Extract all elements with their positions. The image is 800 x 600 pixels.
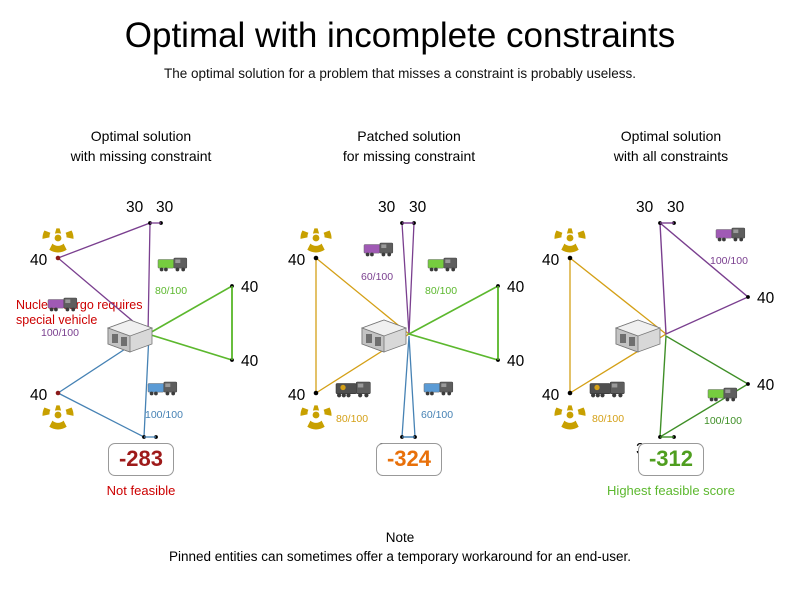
node-label: 30 xyxy=(636,199,654,216)
vehicle-capacity-label: 100/100 xyxy=(710,255,748,267)
score-caption: Not feasible xyxy=(8,483,274,498)
node-nuclear-top-left[interactable] xyxy=(568,256,573,261)
vehicle-purple-icon[interactable] xyxy=(364,243,393,256)
panel-1-diagram: 40 40 30 30 30 30 40 40 100/100 xyxy=(8,170,274,436)
radiation-icon xyxy=(41,405,74,429)
node-label: 40 xyxy=(757,290,775,307)
panel-3-diagram: 40 40 30 30 30 30 40 40 100/100 xyxy=(538,170,800,436)
node-label: 40 xyxy=(30,252,48,269)
vehicle-capacity-label: 80/100 xyxy=(336,413,368,425)
route-purple xyxy=(58,223,150,334)
node-label: 40 xyxy=(507,279,525,296)
panel-2-heading: Patched solution for missing constraint xyxy=(276,126,542,166)
node-right-lower[interactable] xyxy=(746,382,750,386)
node-nuclear-top-left[interactable] xyxy=(56,256,61,261)
node-nuclear-bottom-left[interactable] xyxy=(568,391,573,396)
vehicle-purple-icon[interactable] xyxy=(716,228,745,241)
depot-icon xyxy=(362,320,406,352)
score-badge: -283 xyxy=(108,443,174,476)
vehicle-capacity-label: 80/100 xyxy=(425,285,457,297)
slide-root: Optimal with incomplete constraints The … xyxy=(0,0,800,600)
node-right-upper[interactable] xyxy=(746,295,750,299)
node-label: 40 xyxy=(542,252,560,269)
node-label: 40 xyxy=(542,387,560,404)
radiation-icon xyxy=(41,228,74,252)
page-subtitle: The optimal solution for a problem that … xyxy=(0,66,800,81)
vehicle-green-icon[interactable] xyxy=(158,258,187,271)
panel-1-heading: Optimal solution with missing constraint xyxy=(8,126,274,166)
node-nuclear-bottom-left[interactable] xyxy=(314,391,319,396)
vehicle-blue-icon[interactable] xyxy=(424,382,453,395)
vehicle-capacity-label: 100/100 xyxy=(145,409,183,421)
panel-2-diagram: 40 40 30 30 30 30 40 40 60/100 xyxy=(276,170,542,436)
vehicle-blue-icon[interactable] xyxy=(148,382,177,395)
score-cell-3: -312 Highest feasible score xyxy=(538,443,800,498)
radiation-icon xyxy=(553,405,586,429)
vehicle-special-nuclear-icon[interactable] xyxy=(336,382,370,397)
vehicle-special-nuclear-icon[interactable] xyxy=(590,382,624,397)
node-nuclear-top-left[interactable] xyxy=(314,256,319,261)
node-label: 30 xyxy=(667,199,685,216)
node-label: 40 xyxy=(757,377,775,394)
radiation-icon xyxy=(299,405,332,429)
score-row: -283 Not feasible -324 -312 Highest feas… xyxy=(0,443,800,513)
node-label: 40 xyxy=(241,353,259,370)
vehicle-purple-icon[interactable] xyxy=(48,298,77,311)
route-green xyxy=(409,286,498,360)
node-label: 30 xyxy=(378,199,396,216)
panel-3-heading: Optimal solution with all constraints xyxy=(538,126,800,166)
vehicle-capacity-label: 60/100 xyxy=(361,271,393,283)
vehicle-green-icon[interactable] xyxy=(428,258,457,271)
route-purple xyxy=(402,223,414,334)
node-nuclear-bottom-left[interactable] xyxy=(56,391,61,396)
page-title: Optimal with incomplete constraints xyxy=(0,16,800,56)
score-caption: Highest feasible score xyxy=(538,483,800,498)
node-label: 30 xyxy=(156,199,174,216)
panel-3-heading-line1: Optimal solution xyxy=(621,128,721,144)
panel-optimal-missing-constraint: Optimal solution with missing constraint… xyxy=(8,126,274,436)
vehicle-capacity-label: 80/100 xyxy=(592,413,624,425)
route-green xyxy=(148,286,232,360)
score-badge: -324 xyxy=(376,443,442,476)
vehicle-capacity-label: 60/100 xyxy=(421,409,453,421)
footer-note-heading: Note xyxy=(0,528,800,547)
panel-2-heading-line2: for missing constraint xyxy=(276,146,542,166)
footer-note-text: Pinned entities can sometimes offer a te… xyxy=(169,549,631,564)
panel-2-heading-line1: Patched solution xyxy=(357,128,461,144)
vehicle-capacity-label: 100/100 xyxy=(704,415,742,427)
panel-3-heading-line2: with all constraints xyxy=(538,146,800,166)
vehicle-capacity-label: 100/100 xyxy=(41,327,79,339)
footer-note: Note Pinned entities can sometimes offer… xyxy=(0,528,800,566)
panel-1-heading-line1: Optimal solution xyxy=(91,128,191,144)
route-blue xyxy=(402,336,415,437)
radiation-icon xyxy=(553,228,586,252)
vehicle-capacity-label: 80/100 xyxy=(155,285,187,297)
node-label: 30 xyxy=(126,199,144,216)
node-label: 40 xyxy=(507,353,525,370)
node-label: 30 xyxy=(409,199,427,216)
radiation-icon xyxy=(299,228,332,252)
score-cell-1: -283 Not feasible xyxy=(8,443,274,498)
node-label: 40 xyxy=(241,279,259,296)
panel-patched-solution: Patched solution for missing constraint xyxy=(276,126,542,436)
score-badge: -312 xyxy=(638,443,704,476)
panel-1-heading-line2: with missing constraint xyxy=(8,146,274,166)
node-label: 40 xyxy=(30,387,48,404)
node-label: 40 xyxy=(288,387,306,404)
node-label: 40 xyxy=(288,252,306,269)
panel-optimal-all-constraints: Optimal solution with all constraints xyxy=(538,126,800,436)
depot-icon xyxy=(108,320,152,352)
score-cell-2: -324 xyxy=(276,443,542,483)
